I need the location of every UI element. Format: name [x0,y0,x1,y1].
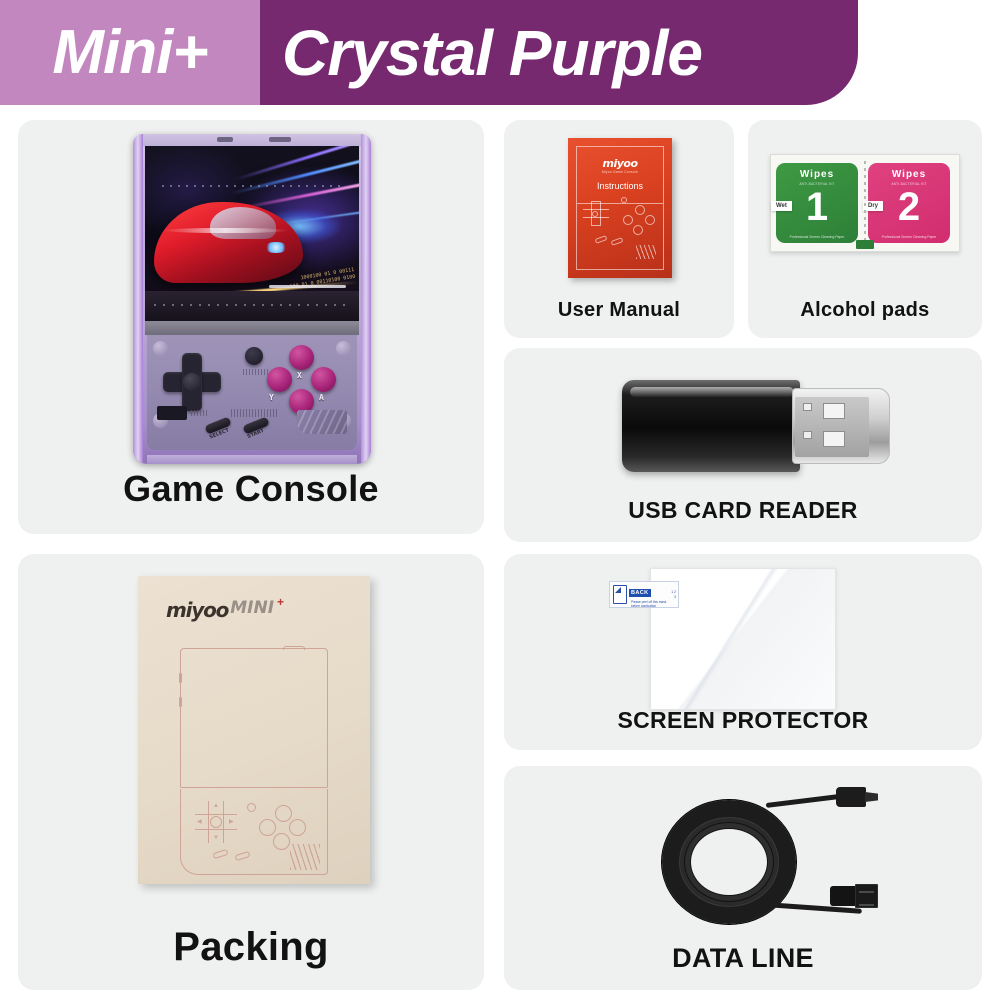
console-shell: 1000100 01 0 00111 100 01 0 00110100 010… [133,134,371,464]
product-variant-title: Crystal Purple [282,21,702,85]
console-left-edge [133,134,143,464]
usb-pin [803,403,812,411]
y-button-label: Y [269,393,274,402]
pcb-trace [191,410,207,416]
a-button-label: A [319,393,324,402]
dpad-center [183,373,201,391]
card-label-data-line: DATA LINE [504,943,982,974]
data-cable-image [616,784,878,934]
console-screen: 1000100 01 0 00111 100 01 0 00110100 010… [145,146,359,321]
function-button[interactable] [245,347,263,365]
wet-wipe-title: Wipes [776,169,858,180]
manual-cover-divider [577,203,663,204]
packing-side-nub [179,673,182,683]
manual-face-button [623,215,633,225]
card-screen-protector[interactable]: BACK Please peel off this mask before ap… [504,554,982,750]
card-label-screen-protector: SCREEN PROTECTOR [504,707,982,734]
packing-top-nub [283,646,305,650]
micro-usb-shell [836,787,866,807]
card-alcohol-pads[interactable]: Wipes ANTI-BACTERIAL KIT 1 Professional … [748,120,982,338]
manual-speaker-icon [636,245,656,259]
micro-usb-tip [865,792,878,802]
packing-x-button [275,805,292,822]
manual-title: Instructions [577,181,663,191]
pcb-trace [243,369,269,375]
peel-film-icon [613,585,627,604]
dry-wipe-title: Wipes [868,169,950,180]
race-car-graphic [154,202,304,283]
accessory-cards-grid: 1000100 01 0 00111 100 01 0 00110100 010… [18,120,982,990]
packing-box-image: miyoo MINI + ▲ ◀ ▶ ▼ [138,576,370,884]
manual-face-button [633,225,643,235]
packing-dpad-center [210,816,222,828]
header-variant-band: Crystal Purple [260,0,858,105]
x-button-label: X [297,371,302,380]
peel-tab-back-label: BACK [629,589,651,597]
packet-seal-chip [856,240,874,249]
manual-brand-subtitle: Miyoo Game Console [577,170,663,174]
pcb-chip [157,406,187,420]
dpad-down-arrow-icon: ▼ [213,835,219,841]
usb-reader-body [622,380,800,472]
packing-function-button [247,803,256,812]
usb-a-connector [792,388,890,464]
dpad-left-arrow-icon: ◀ [197,819,202,825]
console-top-nub [217,137,233,142]
peel-tab-note: Please peel off this mask before applica… [629,599,671,608]
header-badge-band: Mini+ [0,0,260,105]
usb-a-metal-tip [855,884,878,908]
packing-speaker-icon [290,844,320,870]
packing-start-button [234,851,250,861]
card-packing[interactable]: miyoo MINI + ▲ ◀ ▶ ▼ [18,554,484,990]
dry-wipe-tab: Dry [863,201,883,211]
console-bottom-edge [147,455,357,464]
wet-wipe-tab: Wet [771,201,792,211]
dry-wipe-packet: Wipes ANTI-BACTERIAL KIT 2 Professional … [868,163,950,243]
a-button[interactable] [311,367,336,392]
manual-face-button [645,215,655,225]
car-highlight [163,228,289,233]
dpad-right-arrow-icon: ▶ [229,819,234,825]
x-button[interactable] [289,345,314,370]
product-model-badge: Mini+ [52,22,207,84]
card-data-line[interactable]: DATA LINE [504,766,982,990]
screen-hud-bar [269,285,346,288]
car-headlight [264,242,288,252]
usb-card-reader-image [622,376,890,476]
manual-select-button [595,235,608,244]
y-button[interactable] [267,367,292,392]
screen-protector-image: BACK Please peel off this mask before ap… [650,568,836,710]
user-manual-booklet: miyoo Miyoo Game Console Instructions [568,138,672,278]
packing-b-button [273,833,290,850]
road-dot-row [154,304,351,306]
miyoo-logo: miyoo [577,157,663,170]
packing-dpad-icon: ▲ ◀ ▶ ▼ [195,801,237,843]
card-usb-card-reader[interactable]: USB CARD READER [504,348,982,542]
speaker-grille [297,410,347,434]
packing-console-screen-outline [180,648,328,788]
console-right-edge [361,134,371,464]
alcohol-pads-pack: Wipes ANTI-BACTERIAL KIT 1 Professional … [770,154,960,252]
card-game-console[interactable]: 1000100 01 0 00111 100 01 0 00110100 010… [18,120,484,534]
manual-cover-frame: miyoo Miyoo Game Console Instructions [576,146,664,270]
product-header-banner: Mini+ Crystal Purple [0,0,858,105]
face-screw [336,341,351,356]
screen-road [145,291,359,321]
dpad-icon[interactable] [163,353,221,411]
card-label-packing: Packing [18,925,484,970]
wet-wipe-packet: Wipes ANTI-BACTERIAL KIT 1 Professional … [776,163,858,243]
card-user-manual[interactable]: miyoo Miyoo Game Console Instructions Us… [504,120,734,338]
packing-console-face-outline: ▲ ◀ ▶ ▼ [180,789,328,875]
packing-select-button [212,849,228,859]
dry-wipe-footer: Professional Screen Cleaning Paper [868,235,950,239]
packing-plus-mark: + [277,595,284,609]
console-hinge [145,321,359,335]
screen-dot-row [162,185,346,187]
manual-face-button [635,205,645,215]
usb-connector-shield [795,397,869,457]
dpad-up-arrow-icon: ▲ [213,803,219,809]
game-console-image: 1000100 01 0 00111 100 01 0 00110100 010… [133,134,371,464]
packing-model-name: MINI [230,598,274,618]
micro-usb-connector [836,787,878,807]
usb-pin [823,403,845,419]
console-top-bar [143,134,361,146]
packing-brand-logo: miyoo MINI + [166,598,284,622]
pcb-trace [231,409,277,417]
usb-pin [803,431,812,439]
manual-start-button [611,237,624,246]
usb-pin [823,431,845,447]
card-label-alcohol-pads: Alcohol pads [748,299,982,322]
console-control-face: X Y A B SELECT START [147,335,357,450]
manual-dpad-center [592,211,598,217]
packing-y-button [259,819,276,836]
usb-a-cable-connector [830,884,878,908]
packing-a-button [289,819,306,836]
packing-side-nub [179,697,182,707]
wet-wipe-footer: Professional Screen Cleaning Paper [776,235,858,239]
card-label-game-console: Game Console [18,468,484,510]
manual-small-button [621,197,627,203]
packing-brand-name: miyoo [166,598,228,622]
usb-a-shell [830,886,856,906]
console-top-nub [269,137,291,142]
peel-tab-text: BACK Please peel off this mask before ap… [629,581,671,608]
peel-tab-numbers: 1 2 3 [671,590,678,600]
card-label-usb-card-reader: USB CARD READER [504,497,982,524]
perforation-line [864,161,866,245]
protector-peel-tab: BACK Please peel off this mask before ap… [609,581,679,608]
card-label-user-manual: User Manual [504,299,734,322]
